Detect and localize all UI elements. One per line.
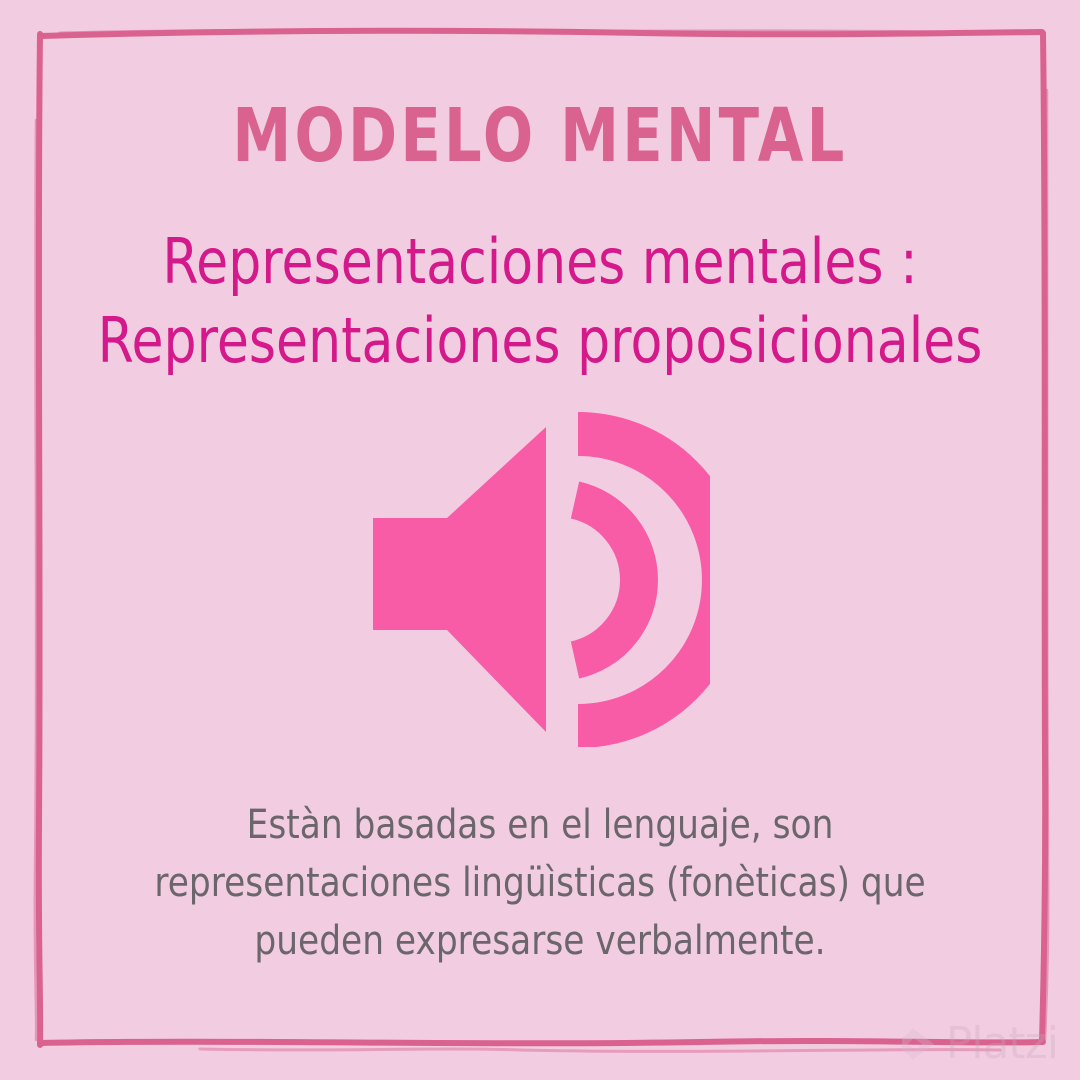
platzi-logo-icon: [898, 1024, 938, 1064]
subtitle-line-2: Representaciones proposicionales: [86, 301, 993, 380]
speaker-volume-icon: [370, 412, 710, 747]
platzi-watermark-text: Platzi: [946, 1022, 1058, 1066]
body-line-2: representaciones lingüìsticas (fonèticas…: [76, 854, 1005, 912]
subtitle-line-1: Representaciones mentales :: [86, 222, 993, 301]
page-title: MODELO MENTAL: [108, 98, 972, 176]
mental-model-card: MODELO MENTAL Representaciones mentales …: [0, 0, 1080, 1080]
body-line-3: pueden expresarse verbalmente.: [76, 912, 1005, 970]
platzi-watermark: Platzi: [898, 1022, 1058, 1066]
body-line-1: Estàn basadas en el lenguaje, son: [76, 796, 1005, 854]
body-paragraph: Estàn basadas en el lenguaje, son repres…: [76, 796, 1005, 970]
subtitle-block: Representaciones mentales : Representaci…: [86, 222, 993, 381]
